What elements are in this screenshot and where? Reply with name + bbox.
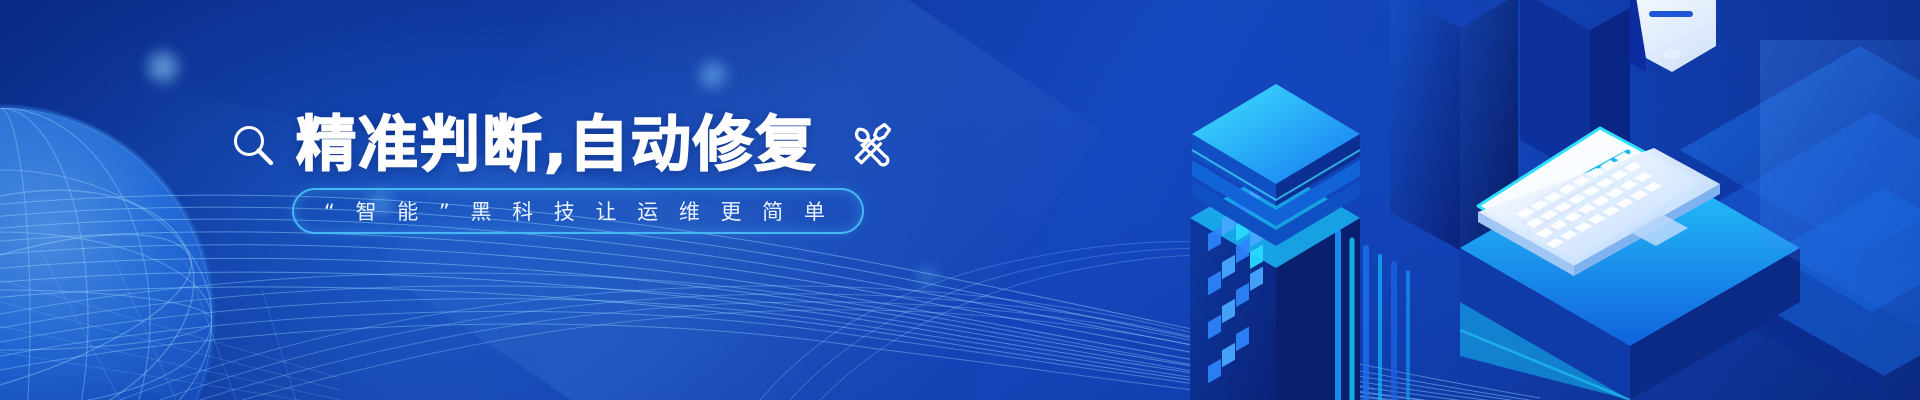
perspective-grid bbox=[0, 250, 340, 400]
headline-text: 精准判断,自动修复 bbox=[296, 114, 817, 176]
subtitle-pill: “ 智 能 ” 黑 科 技 让 运 维 更 简 单 bbox=[292, 188, 864, 234]
subtitle-text: “ 智 能 ” 黑 科 技 让 运 维 更 简 单 bbox=[324, 196, 832, 226]
document-card bbox=[1630, 0, 1716, 72]
globe-sphere-glow bbox=[0, 105, 215, 400]
wrench-screwdriver-icon bbox=[845, 116, 903, 174]
isometric-illustration bbox=[1160, 0, 1920, 400]
promo-banner: 精准判断,自动修复 “ 智 能 ” 黑 科 技 让 运 维 更 简 单 bbox=[0, 0, 1920, 400]
bokeh-dot bbox=[700, 62, 726, 88]
bokeh-dot bbox=[148, 52, 178, 82]
headline-block: 精准判断,自动修复 bbox=[230, 108, 1060, 182]
search-icon bbox=[230, 122, 276, 168]
bokeh-dot bbox=[918, 268, 936, 286]
